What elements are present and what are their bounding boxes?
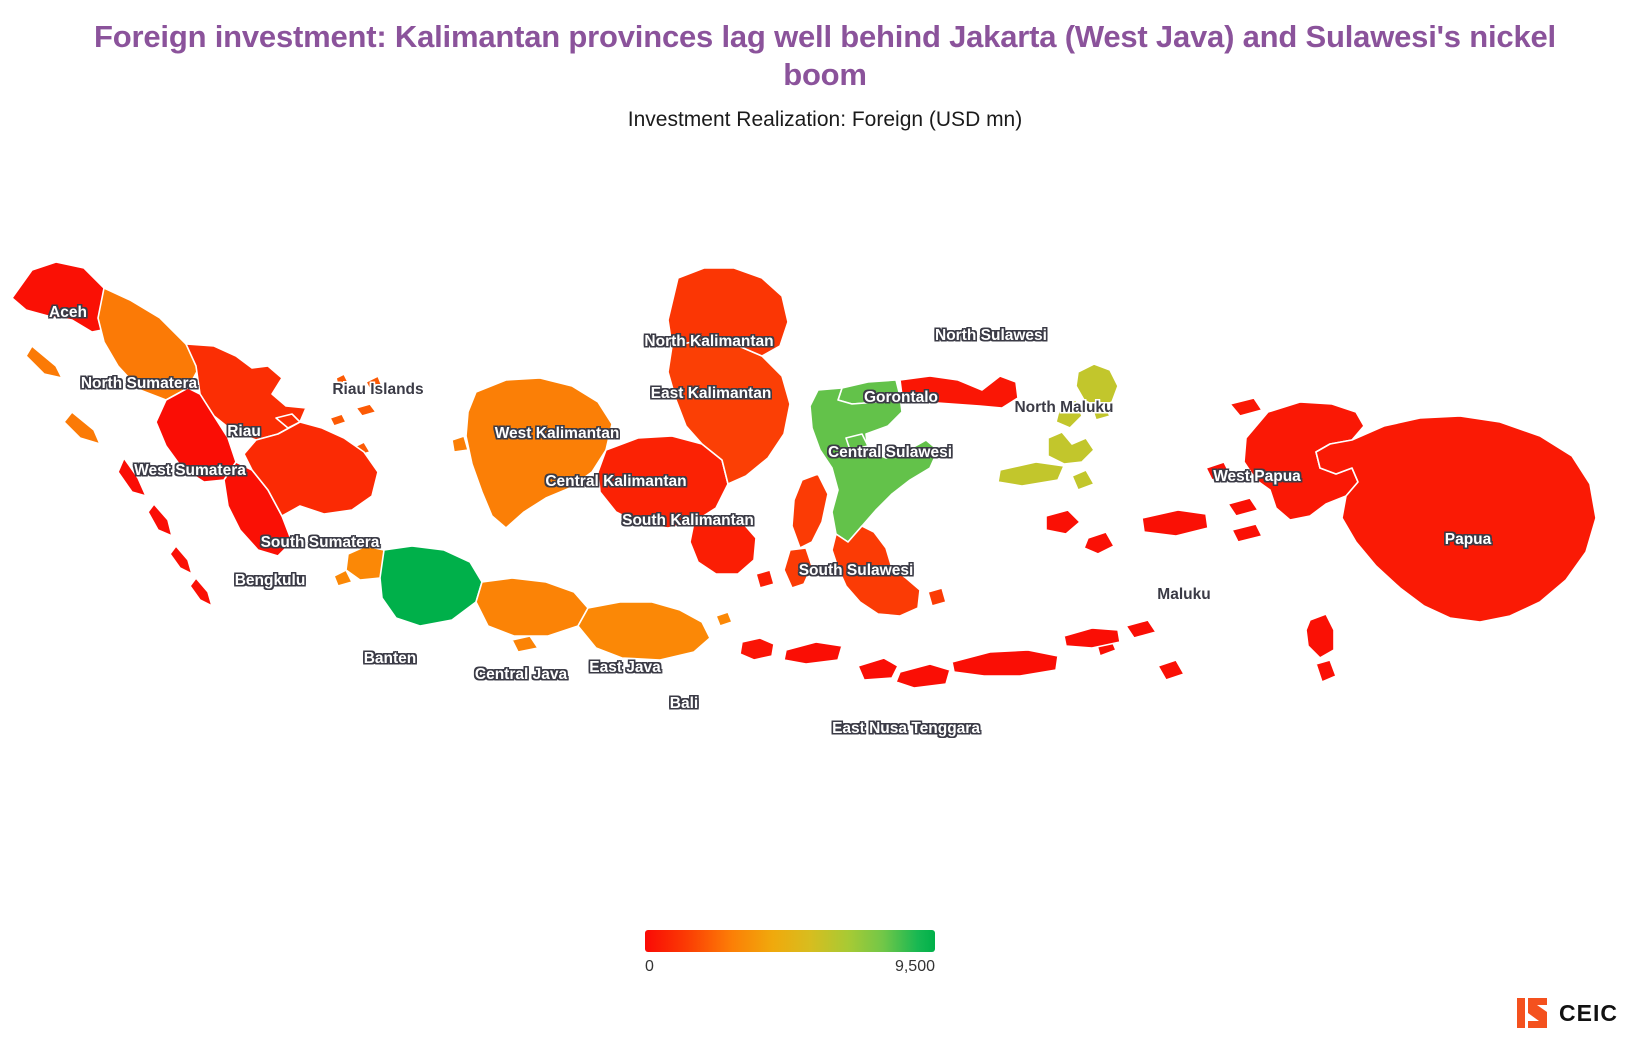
choropleth-map[interactable]: Aceh: 250North Sumatera: 2100Riau: 900Ri… <box>0 150 1650 850</box>
province-shapes[interactable]: Aceh: 250North Sumatera: 2100Riau: 900Ri… <box>12 262 1596 688</box>
legend-max-label: 9,500 <box>895 958 935 976</box>
province-south-kalimantan[interactable]: South Kalimantan: 600 <box>690 516 774 588</box>
ceic-wordmark: CEIC <box>1559 1000 1618 1027</box>
chart-subtitle: Investment Realization: Foreign (USD mn) <box>0 108 1650 132</box>
legend-colorbar <box>645 930 935 952</box>
province-north-kalimantan[interactable]: North Kalimantan: 1000 <box>668 268 788 356</box>
ceic-branding: CEIC <box>1517 998 1618 1028</box>
province-west-kalimantan[interactable]: West Kalimantan: 2200 <box>452 378 612 528</box>
province-west-java[interactable]: West Java: 9500 <box>380 546 482 626</box>
province-papua[interactable]: Papua: 450 <box>1316 416 1596 622</box>
legend-min-label: 0 <box>645 958 654 976</box>
ceic-logo-icon <box>1517 998 1549 1028</box>
province-central-java[interactable]: Central Java: 2300 <box>476 578 588 652</box>
province-central-sulawesi[interactable]: Central Sulawesi: 7100 <box>810 388 938 542</box>
province-east-java[interactable]: East Java: 2450 <box>578 602 732 660</box>
province-bali[interactable]: Bali: 300 <box>740 638 774 660</box>
province-north-sulawesi[interactable]: North Sulawesi: 350 <box>900 376 1018 408</box>
indonesia-map-svg[interactable]: Aceh: 250North Sumatera: 2100Riau: 900Ri… <box>0 150 1650 850</box>
page-title: Foreign investment: Kalimantan provinces… <box>0 18 1650 94</box>
color-legend: 0 9,500 <box>0 920 1650 990</box>
